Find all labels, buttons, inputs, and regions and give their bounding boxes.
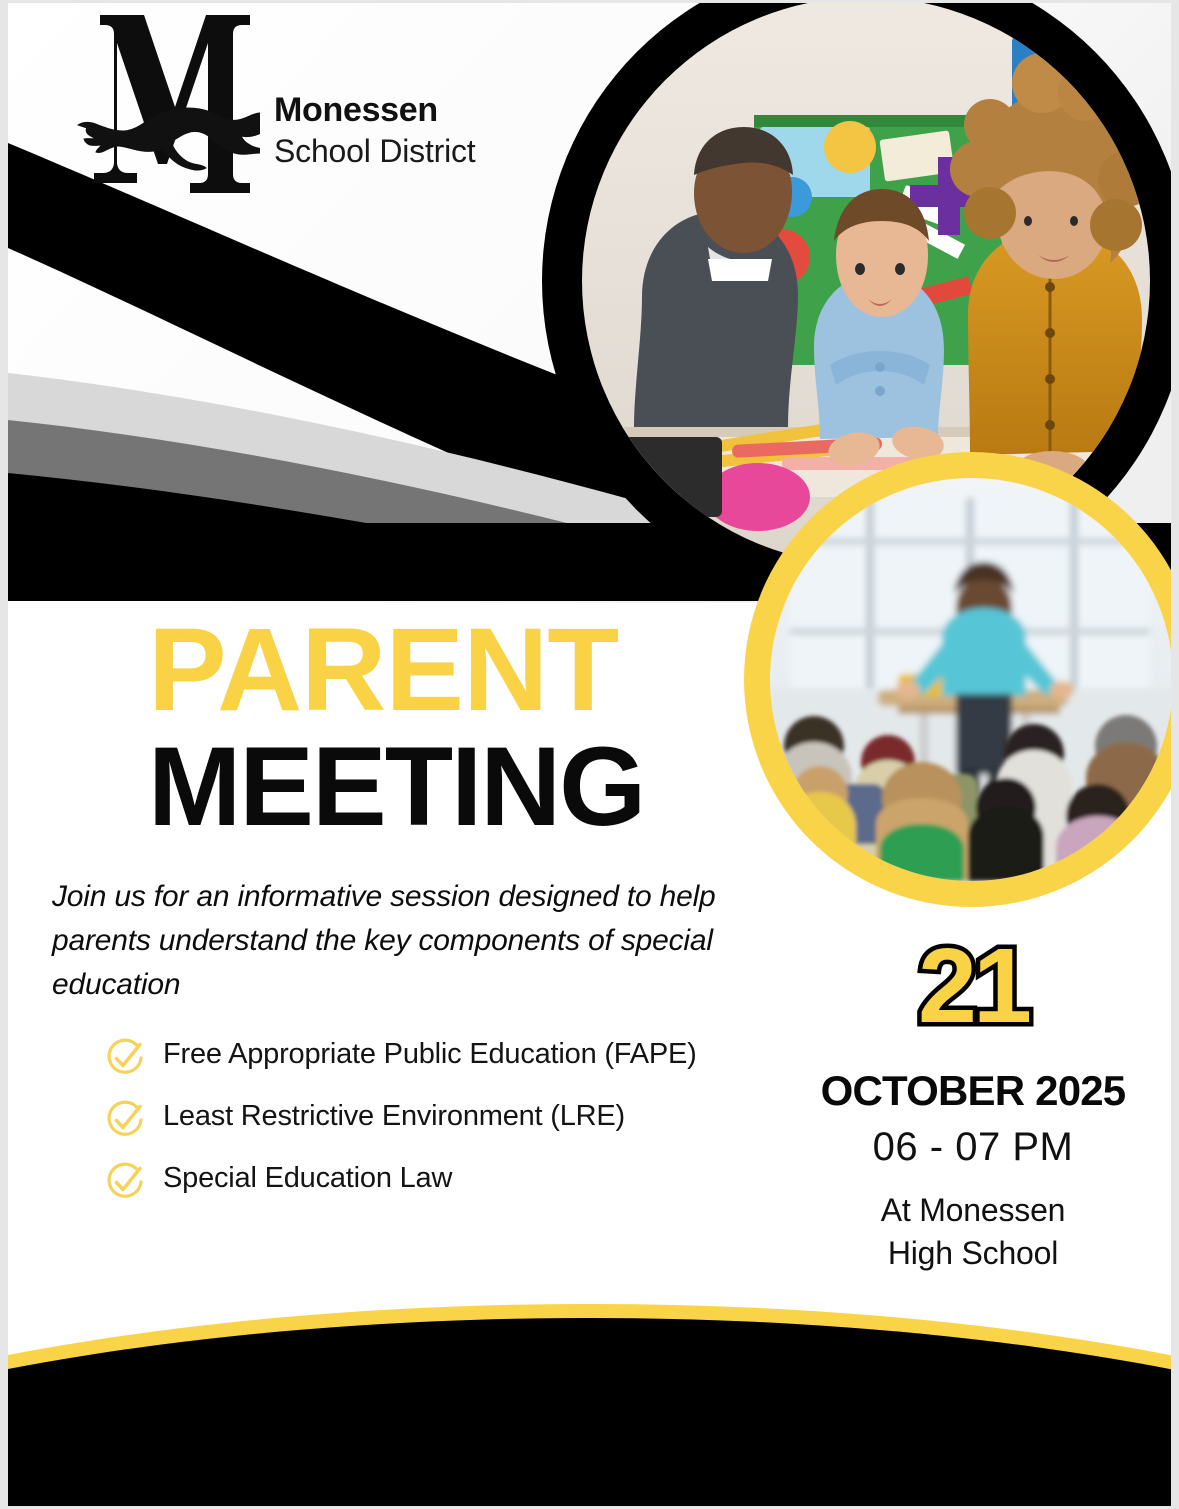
event-month-year: OCTOBER 2025 [778, 1069, 1168, 1113]
brand-name-line2: School District [274, 131, 476, 171]
list-item: Special Education Law [104, 1157, 714, 1203]
list-item: Least Restrictive Environment (LRE) [104, 1095, 714, 1141]
seminar-photo [770, 478, 1171, 881]
brand-logo: Monessen School District [70, 5, 476, 200]
event-venue-line1: At Monessen [778, 1189, 1168, 1232]
title-line-parent: PARENT [148, 615, 644, 726]
topics-list: Free Appropriate Public Education (FAPE)… [104, 1033, 714, 1203]
title-line-meeting: MEETING [148, 732, 644, 842]
event-venue: At Monessen High School [778, 1189, 1168, 1275]
list-item-label: Special Education Law [163, 1157, 452, 1199]
list-item: Free Appropriate Public Education (FAPE) [104, 1033, 714, 1079]
check-circle-icon [104, 1037, 146, 1079]
page-title: PARENT MEETING [148, 615, 644, 842]
subtitle-text: Join us for an informative session desig… [52, 875, 742, 1007]
event-day: 21 [778, 933, 1168, 1039]
event-time: 06 - 07 PM [778, 1125, 1168, 1169]
event-details: 21 OCTOBER 2025 06 - 07 PM At Monessen H… [778, 933, 1168, 1275]
brand-name-line1: Monessen [274, 90, 476, 130]
check-circle-icon [104, 1099, 146, 1141]
check-circle-icon [104, 1161, 146, 1203]
list-item-label: Free Appropriate Public Education (FAPE) [163, 1033, 697, 1075]
list-item-label: Least Restrictive Environment (LRE) [163, 1095, 625, 1137]
footer-arc-decoration [8, 1286, 1171, 1506]
monessen-greyhound-m-logo-icon [70, 5, 260, 200]
flyer-page: Monessen School District [8, 3, 1171, 1506]
document-viewer: Monessen School District [0, 0, 1179, 1509]
event-venue-line2: High School [778, 1232, 1168, 1275]
seminar-photo-circle [744, 452, 1171, 907]
brand-name: Monessen School District [274, 34, 476, 170]
